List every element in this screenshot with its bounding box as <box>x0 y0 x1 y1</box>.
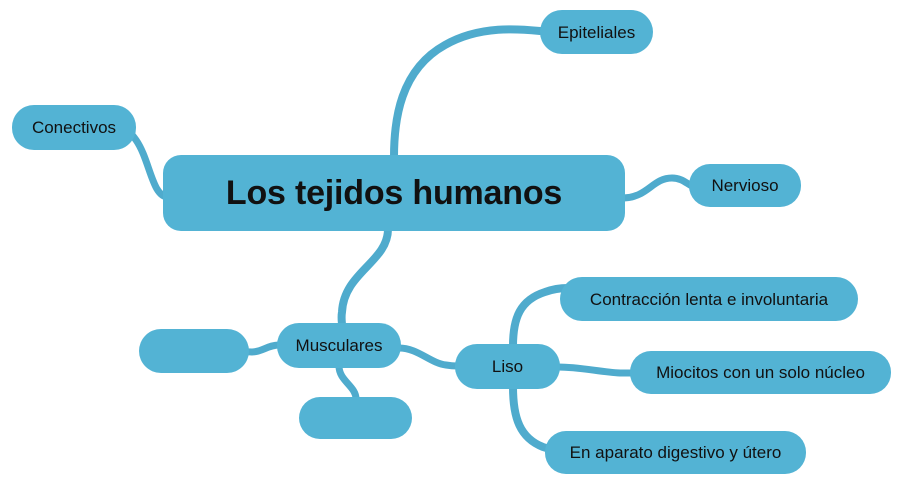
mindmap-node-miocitos[interactable]: Miocitos con un solo núcleo <box>630 351 891 394</box>
mindmap-node-label: Liso <box>492 358 523 375</box>
mindmap-node-musculares-empty-below[interactable] <box>299 397 412 439</box>
mindmap-node-label: Contracción lenta e involuntaria <box>590 291 828 308</box>
mindmap-node-contraccion[interactable]: Contracción lenta e involuntaria <box>560 277 858 321</box>
mindmap-node-aparato[interactable]: En aparato digestivo y útero <box>545 431 806 474</box>
mindmap-node-epiteliales[interactable]: Epiteliales <box>540 10 653 54</box>
mindmap-node-label: Nervioso <box>711 177 778 194</box>
mindmap-edge <box>394 29 540 157</box>
mindmap-node-label: Conectivos <box>32 119 116 136</box>
mindmap-node-musculares[interactable]: Musculares <box>277 323 401 368</box>
mindmap-node-label: Miocitos con un solo núcleo <box>656 364 865 381</box>
mindmap-node-conectivos[interactable]: Conectivos <box>12 105 136 150</box>
mindmap-node-musculares-empty-left[interactable] <box>139 329 249 373</box>
mindmap-node-label: Los tejidos humanos <box>226 176 562 210</box>
mindmap-node-nervioso[interactable]: Nervioso <box>689 164 801 207</box>
mindmap-edge <box>558 367 634 373</box>
mindmap-edge <box>342 229 388 325</box>
mindmap-node-liso[interactable]: Liso <box>455 344 560 389</box>
mindmap-canvas: Los tejidos humanosConectivosEpiteliales… <box>0 0 909 499</box>
mindmap-node-label: En aparato digestivo y útero <box>570 444 782 461</box>
mindmap-node-root[interactable]: Los tejidos humanos <box>163 155 625 231</box>
mindmap-node-label: Musculares <box>296 337 383 354</box>
mindmap-node-label: Epiteliales <box>558 24 636 41</box>
mindmap-edges <box>0 0 909 499</box>
mindmap-edge <box>622 178 692 198</box>
mindmap-edge <box>399 348 457 366</box>
